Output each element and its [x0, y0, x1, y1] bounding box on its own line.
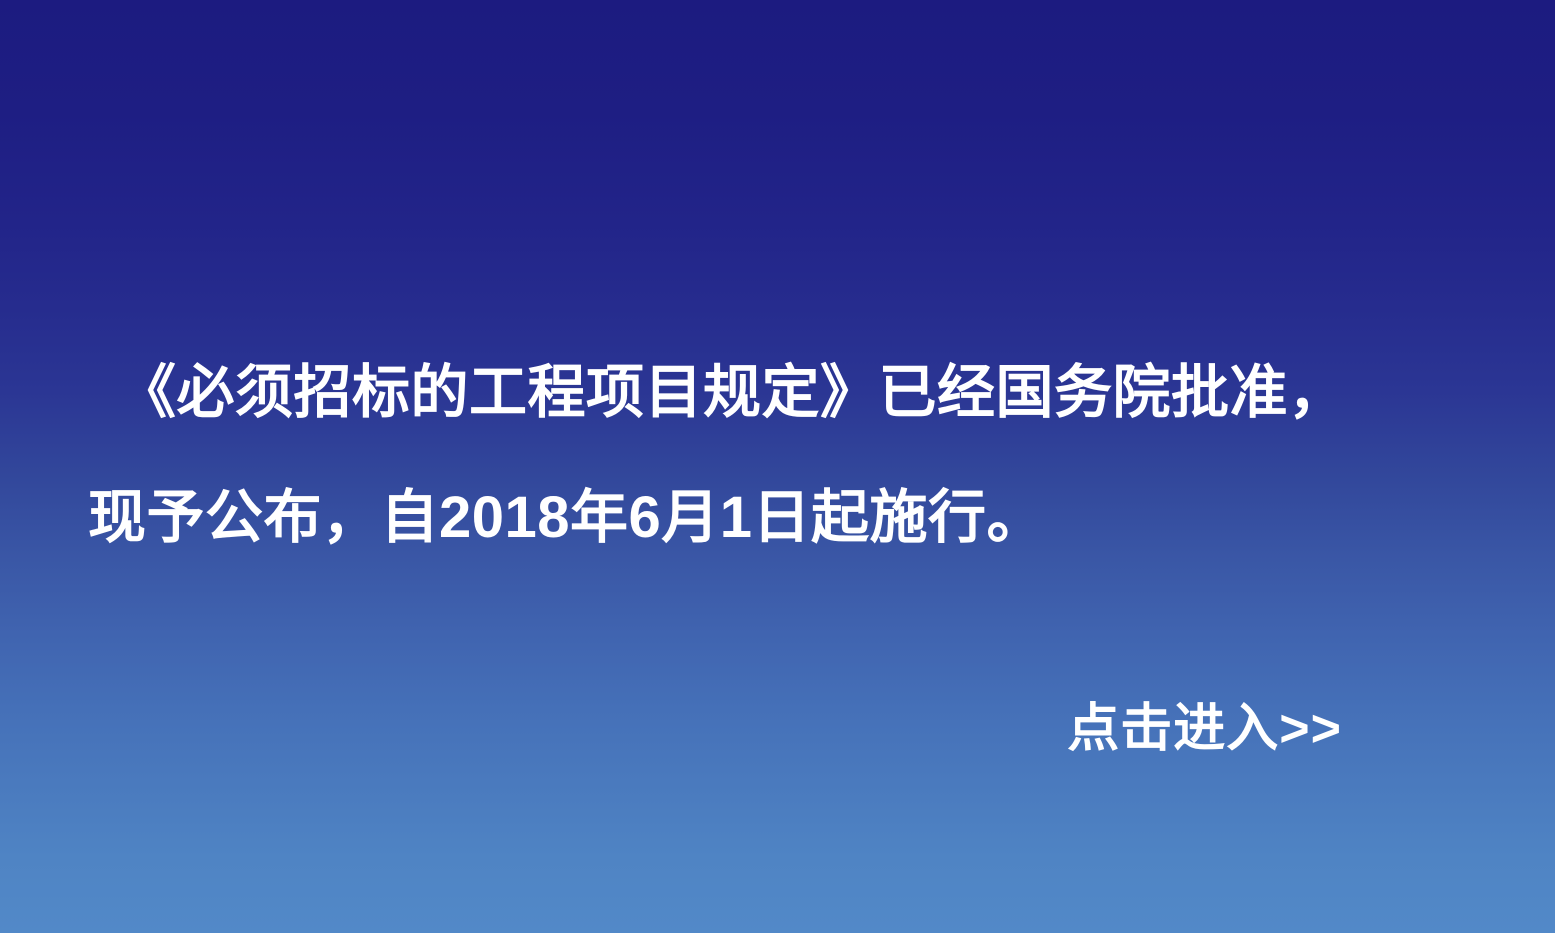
- statement-line-2: 现予公布，自2018年6月1日起施行。: [88, 455, 1468, 580]
- statement-line-1: 《必须招标的工程项目规定》已经国务院批准，: [118, 330, 1468, 455]
- enter-link[interactable]: 点击进入>>: [1067, 690, 1342, 768]
- announcement-banner: 《必须招标的工程项目规定》已经国务院批准， 现予公布，自2018年6月1日起施行…: [0, 0, 1555, 933]
- cta-row: 点击进入>>: [0, 690, 1555, 768]
- statement-block: 《必须招标的工程项目规定》已经国务院批准， 现予公布，自2018年6月1日起施行…: [88, 330, 1468, 580]
